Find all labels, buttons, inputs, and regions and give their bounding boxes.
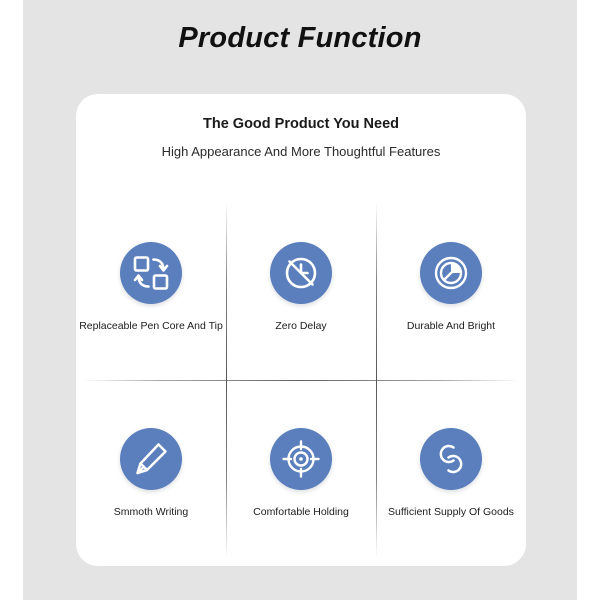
feature-label: Replaceable Pen Core And Tip <box>79 320 223 333</box>
feature-item-smooth-writing[interactable]: Smmoth Writing <box>76 380 226 566</box>
card-subheading: High Appearance And More Thoughtful Feat… <box>76 144 526 159</box>
bright-circle-icon <box>420 242 482 304</box>
crosshair-icon <box>270 428 332 490</box>
content-panel: Product Function The Good Product You Ne… <box>23 0 577 600</box>
page-title: Product Function <box>23 22 577 55</box>
feature-label: Smmoth Writing <box>114 506 189 519</box>
card-heading: The Good Product You Need <box>76 116 526 132</box>
pen-icon <box>120 428 182 490</box>
feature-row-bottom: Smmoth Writing <box>76 380 526 566</box>
feature-grid: Replaceable Pen Core And Tip Zero Delay <box>76 194 526 566</box>
feature-item-replaceable-pen-core[interactable]: Replaceable Pen Core And Tip <box>76 194 226 380</box>
screenshot-root: Product Function The Good Product You Ne… <box>0 0 600 600</box>
feature-item-sufficient-supply[interactable]: Sufficient Supply Of Goods <box>376 380 526 566</box>
feature-row-top: Replaceable Pen Core And Tip Zero Delay <box>76 194 526 380</box>
clock-slash-icon <box>270 242 332 304</box>
replace-squares-icon <box>120 242 182 304</box>
feature-card: The Good Product You Need High Appearanc… <box>76 94 526 566</box>
feature-item-durable-and-bright[interactable]: Durable And Bright <box>376 194 526 380</box>
feature-label: Comfortable Holding <box>253 506 349 519</box>
feature-label: Durable And Bright <box>407 320 495 333</box>
grid-divider-horizontal <box>82 380 520 381</box>
feature-item-comfortable-holding[interactable]: Comfortable Holding <box>226 380 376 566</box>
feature-label: Zero Delay <box>275 320 326 333</box>
feature-label: Sufficient Supply Of Goods <box>388 506 514 519</box>
interlocked-s-icon <box>420 428 482 490</box>
feature-item-zero-delay[interactable]: Zero Delay <box>226 194 376 380</box>
